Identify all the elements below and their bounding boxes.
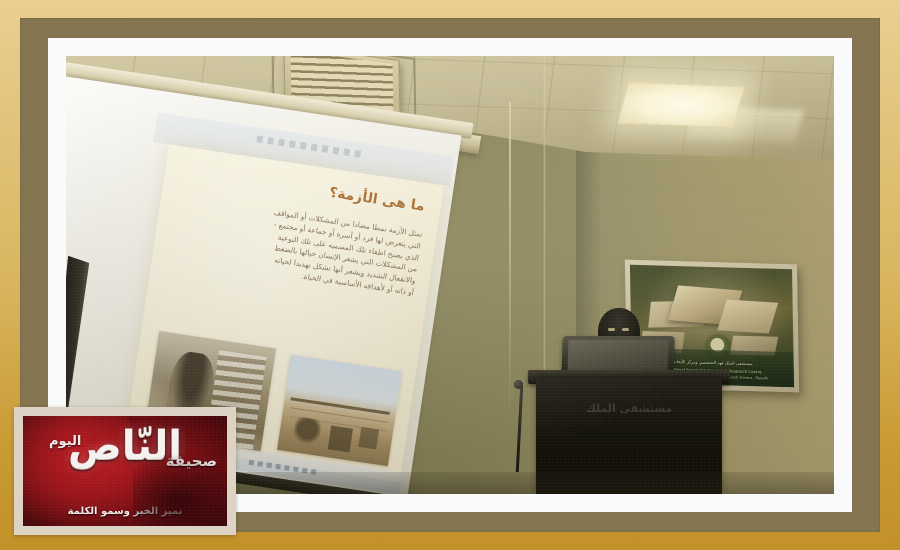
poster-building [717, 300, 778, 334]
microphone-head [514, 380, 523, 389]
logo-masthead: النّاص [23, 426, 227, 466]
speaker-eye [622, 328, 629, 331]
ceiling-light-panel [617, 82, 745, 129]
logo-tagline: تميز الخبر وسمو الكلمة [23, 506, 227, 517]
podium-front-text: مستشفى الملك [536, 402, 722, 415]
logo-sahifa-word: صحيفة [166, 452, 217, 470]
hanging-cord [509, 102, 511, 422]
slide-field-photo [277, 355, 402, 467]
newspaper-logo: اليوم النّاص صحيفة تميز الخبر وسمو الكلم… [23, 416, 227, 526]
newspaper-logo-badge: اليوم النّاص صحيفة تميز الخبر وسمو الكلم… [14, 407, 236, 535]
news-photo-page: ما هى الأزمة؟ تمثل الأزمة نمطا مضادا من … [0, 0, 900, 550]
slide-title: ما هى الأزمة؟ [328, 185, 426, 215]
speaker-eye [608, 328, 615, 331]
